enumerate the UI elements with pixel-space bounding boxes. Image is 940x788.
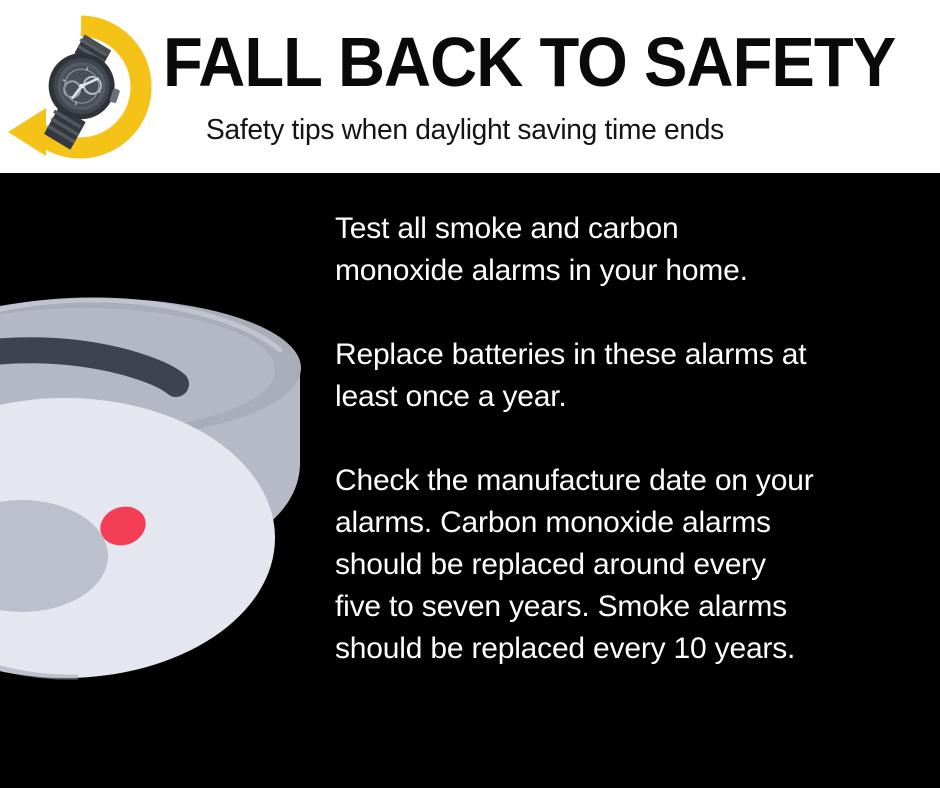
- page-subtitle: Safety tips when daylight saving time en…: [206, 113, 904, 147]
- infographic-poster: FALL BACK TO SAFETY Safety tips when day…: [0, 0, 940, 788]
- content-area: Test all smoke and carbon monoxide alarm…: [0, 173, 940, 788]
- page-title: FALL BACK TO SAFETY: [163, 26, 879, 98]
- safety-tip-1: Test all smoke and carbon monoxide alarm…: [335, 208, 815, 292]
- clock-rotate-back-icon: [6, 12, 156, 162]
- safety-tip-2: Replace batteries in these alarms at lea…: [335, 334, 815, 418]
- header-band: FALL BACK TO SAFETY Safety tips when day…: [0, 0, 940, 173]
- safety-tip-3: Check the manufacture date on your alarm…: [335, 460, 815, 670]
- smoke-alarm-icon: [0, 228, 310, 698]
- safety-tips-list: Test all smoke and carbon monoxide alarm…: [335, 208, 815, 670]
